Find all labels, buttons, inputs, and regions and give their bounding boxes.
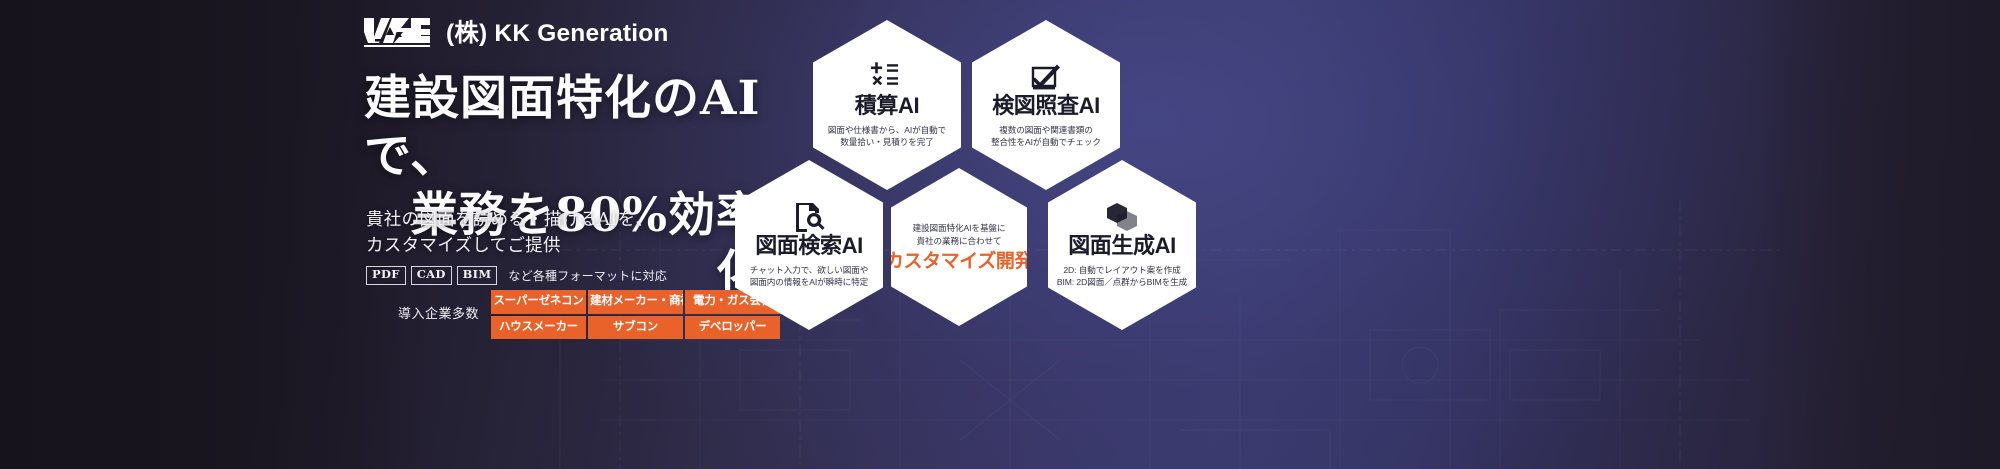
product-card-drawing-search[interactable]: 図面検索AI チャット入力で、欲しい図面や 図面内の情報をAIが瞬時に特定 xyxy=(735,160,883,330)
custom-card-prefix-line-1: 建設図面特化AIを基盤に xyxy=(913,222,1006,234)
product-card-drawing-generation[interactable]: 図面生成AI 2D: 自動でレイアウト案を作成 BIM: 2D図面／点群からBI… xyxy=(1048,160,1196,330)
product-desc-line-2: 数量拾い・見積りを完了 xyxy=(828,136,946,148)
cube-stack-icon xyxy=(1106,202,1138,232)
product-desc-line-1: 2D: 自動でレイアウト案を作成 xyxy=(1057,264,1187,276)
product-desc-line-1: チャット入力で、欲しい図面や xyxy=(750,264,868,276)
product-description: チャット入力で、欲しい図面や 図面内の情報をAIが瞬時に特定 xyxy=(750,264,868,288)
product-desc-line-2: BIM: 2D図面／点群からBIMを生成 xyxy=(1057,276,1187,288)
product-desc-line-2: 整合性をAIが自動でチェック xyxy=(991,136,1101,148)
custom-card-prefix-line-2: 貴社の業務に合わせて xyxy=(913,235,1006,247)
product-card-drawing-review[interactable]: 検図照査AI 複数の図面や関連書類の 整合性をAIが自動でチェック xyxy=(972,20,1120,190)
hero-banner: (株) KK Generation 建設図面特化のAIで、 業務を80%効率化 … xyxy=(0,0,2000,469)
product-hexagon-cluster: 積算AI 図面や仕様書から、AIが自動で 数量拾い・見積りを完了 検図照査AI … xyxy=(0,0,2000,469)
custom-card-prefix: 建設図面特化AIを基盤に 貴社の業務に合わせて xyxy=(913,222,1006,246)
product-title: 検図照査AI xyxy=(992,94,1100,117)
product-card-estimation[interactable]: 積算AI 図面や仕様書から、AIが自動で 数量拾い・見積りを完了 xyxy=(813,20,961,190)
product-desc-line-2: 図面内の情報をAIが瞬時に特定 xyxy=(750,276,868,288)
product-title: 図面検索AI xyxy=(755,234,863,257)
product-description: 2D: 自動でレイアウト案を作成 BIM: 2D図面／点群からBIMを生成 xyxy=(1057,264,1187,288)
product-title: 積算AI xyxy=(855,94,919,117)
checklist-check-icon xyxy=(1029,62,1063,92)
calculator-icon xyxy=(870,62,904,92)
product-desc-line-1: 複数の図面や関連書類の xyxy=(991,124,1101,136)
product-card-custom-development[interactable]: 建設図面特化AIを基盤に 貴社の業務に合わせて カスタマイズ開発 xyxy=(891,168,1027,326)
product-desc-line-1: 図面や仕様書から、AIが自動で xyxy=(828,124,946,136)
custom-card-title: カスタマイズ開発 xyxy=(885,252,1033,272)
product-description: 図面や仕様書から、AIが自動で 数量拾い・見積りを完了 xyxy=(828,124,946,148)
magnifier-document-icon xyxy=(793,202,825,232)
product-title: 図面生成AI xyxy=(1068,234,1176,257)
product-description: 複数の図面や関連書類の 整合性をAIが自動でチェック xyxy=(991,124,1101,148)
